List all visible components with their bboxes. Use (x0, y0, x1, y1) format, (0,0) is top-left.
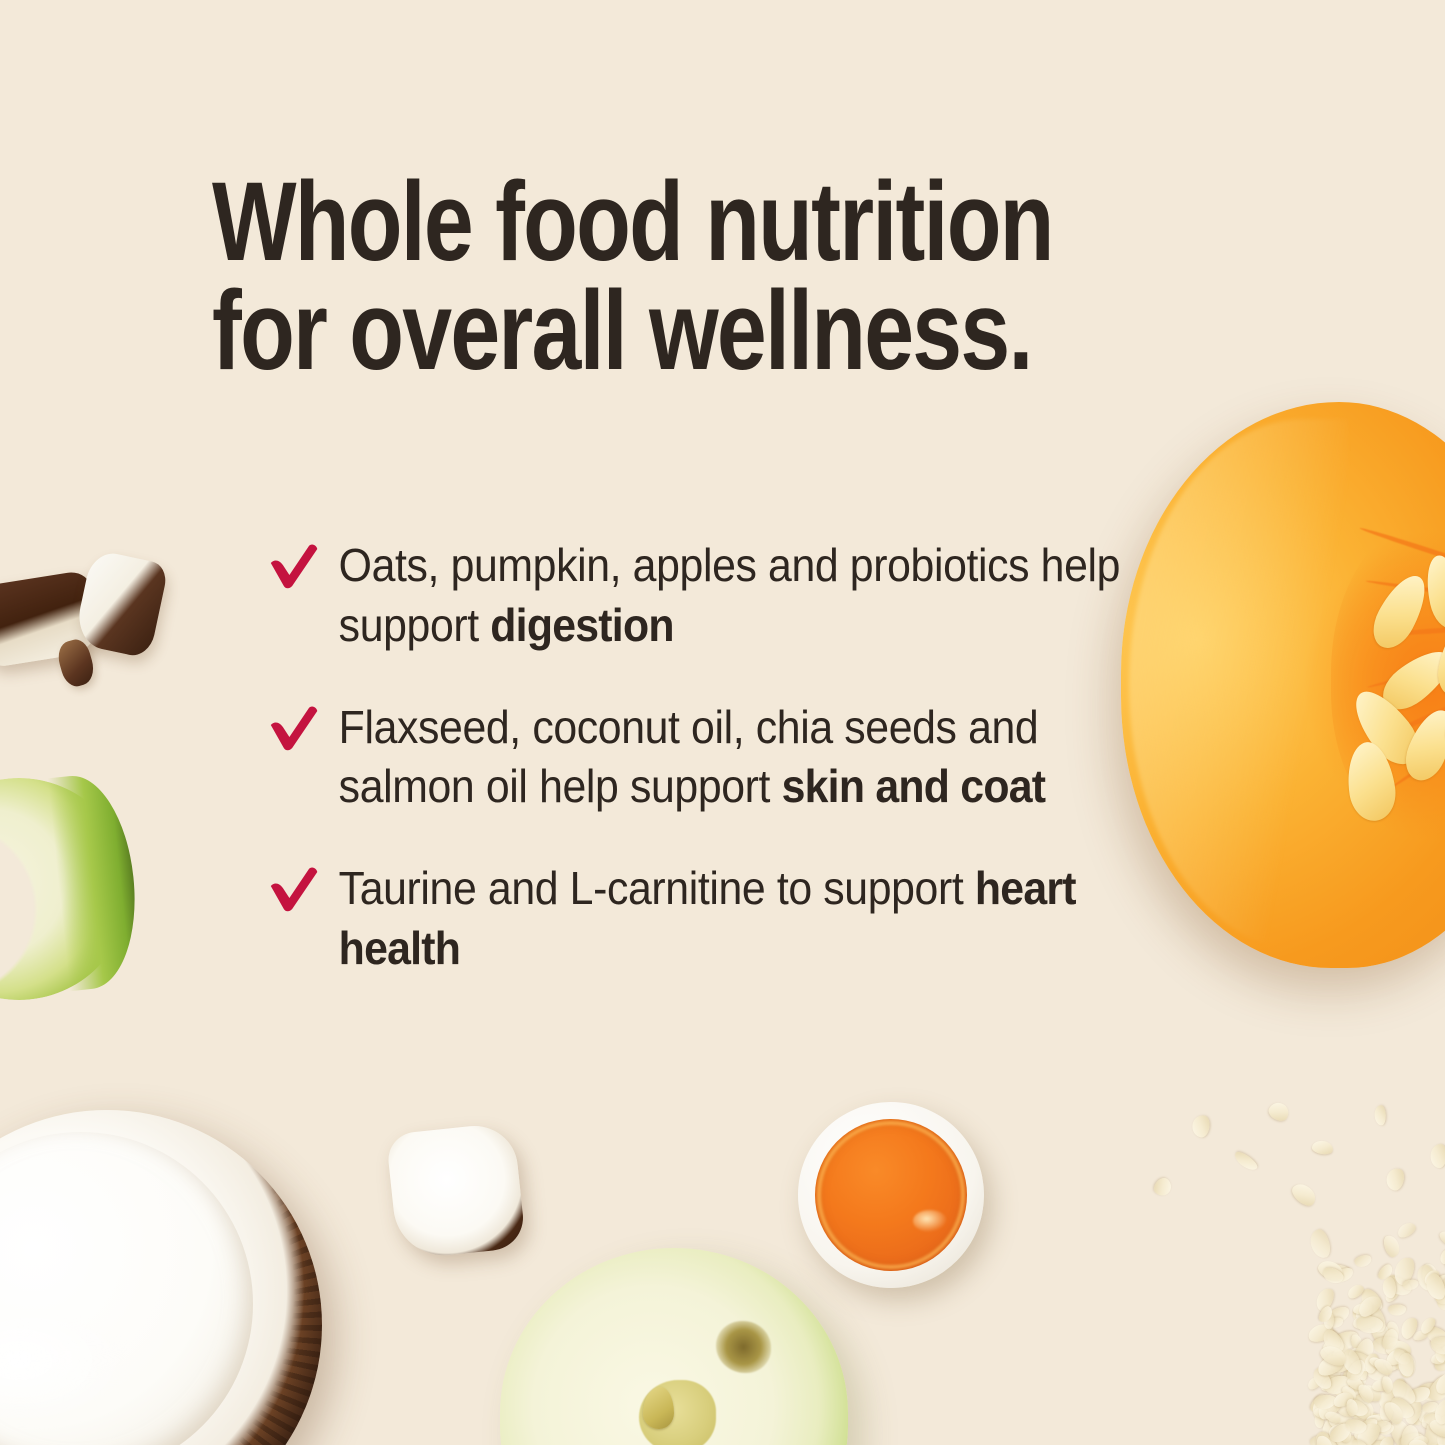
oil-highlight (913, 1210, 946, 1232)
apple-stem-well (716, 1321, 772, 1374)
oat-flake (1430, 1144, 1445, 1169)
list-item: Taurine and L-carnitine to support heart… (268, 859, 1124, 979)
check-icon (268, 865, 320, 913)
oat-flake (1388, 1304, 1406, 1316)
list-item: Flaxseed, coconut oil, chia seeds and sa… (268, 698, 1124, 818)
check-icon (268, 542, 320, 590)
oat-flake (1403, 1279, 1420, 1291)
page-title: Whole food nutrition for overall wellnes… (212, 168, 1060, 385)
list-item: Oats, pumpkin, apples and probiotics hel… (268, 536, 1124, 656)
list-item-text: Taurine and L-carnitine to support heart… (339, 862, 1076, 974)
oat-flake (1438, 1247, 1445, 1266)
coconut-chunk-image (386, 1122, 526, 1261)
rolled-oats-image (1125, 1095, 1445, 1445)
oat-flake (1382, 1234, 1402, 1259)
oat-flake (1266, 1099, 1291, 1123)
oat-flake (1151, 1175, 1175, 1199)
apple-half-image (500, 1248, 848, 1445)
check-icon (268, 704, 320, 752)
oil-rim-highlight (817, 1121, 966, 1270)
salmon-oil-bowl-image (798, 1102, 984, 1288)
list-item-text: Flaxseed, coconut oil, chia seeds and sa… (339, 701, 1046, 813)
promo-canvas: Whole food nutrition for overall wellnes… (0, 0, 1445, 1445)
oat-flake (1311, 1139, 1334, 1155)
coconut-half-image (0, 1110, 322, 1445)
oat-flake (1384, 1167, 1405, 1192)
benefits-list: Oats, pumpkin, apples and probiotics hel… (268, 536, 1188, 979)
oat-flake (1382, 1277, 1397, 1299)
oat-flake (1288, 1180, 1319, 1210)
oat-flake (1396, 1220, 1418, 1240)
apple-wedge-image (0, 767, 141, 1011)
oat-flake (1354, 1254, 1373, 1268)
oat-flake (1374, 1105, 1385, 1125)
oat-flake (1307, 1228, 1332, 1261)
list-item-text: Oats, pumpkin, apples and probiotics hel… (339, 539, 1120, 651)
oat-flake (1438, 1229, 1445, 1247)
oat-flake (1232, 1149, 1259, 1173)
oat-flake (1191, 1114, 1211, 1138)
